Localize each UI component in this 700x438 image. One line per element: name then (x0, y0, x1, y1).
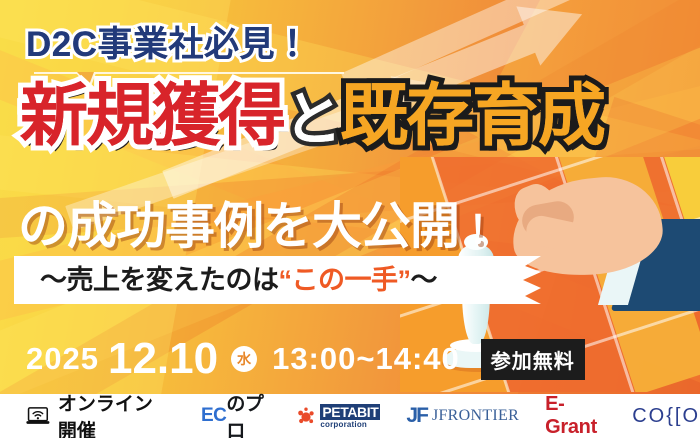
subtitle-open-quote: “ (279, 265, 292, 295)
subtitle-suffix: 〜 (411, 265, 438, 295)
logo-petabit-text: PETABIT corporation (320, 404, 380, 429)
webinar-banner: D2C事業社必見！ D2C事業社必見！ 新規獲得 新規獲得 新規獲得 と と 既… (0, 0, 700, 438)
headline-part1: 新規獲得 新規獲得 新規獲得 (20, 82, 284, 150)
eyebrow-text: D2C事業社必見！ (26, 16, 311, 67)
headline-line3-main: の成功事例を大公開 (18, 198, 459, 254)
headline-row: 新規獲得 新規獲得 新規獲得 と と 既存育成 既存育成 既存育成 (20, 82, 604, 150)
event-day-of-week: 水 (231, 346, 257, 372)
logo-ecnopro-ec: EC (201, 405, 226, 427)
event-time: 13:00~14:40 (272, 341, 460, 377)
logo-ecnopro: ECのプロ (201, 389, 270, 438)
subtitle-highlight: この一手 (292, 265, 398, 295)
logo-coffio: CO{[O (632, 405, 700, 428)
headline-conj: と と (284, 91, 340, 149)
logo-jfrontier-mark: JF (406, 404, 427, 428)
online-event-label: オンライン開催 (58, 389, 171, 438)
headline-part2: 既存育成 既存育成 既存育成 (340, 82, 604, 150)
subtitle-text: 〜売上を変えたのは“この一手”〜 (40, 256, 437, 304)
petabit-splat-icon (296, 406, 316, 426)
event-year: 2025 (26, 341, 99, 377)
headline-line3-mark: ！ (459, 210, 496, 252)
banner-content: D2C事業社必見！ D2C事業社必見！ 新規獲得 新規獲得 新規獲得 と と 既… (0, 0, 700, 438)
event-month-day: 12.10 (108, 337, 218, 381)
logo-petabit-sub: corporation (320, 421, 380, 429)
subtitle-close-quote: ” (398, 265, 411, 295)
headline-conj-text: と (284, 91, 340, 149)
logo-jfrontier-name: JFRONTIER (432, 407, 519, 425)
headline-part1-text: 新規獲得 (20, 82, 284, 150)
logo-petabit: PETABIT corporation (296, 404, 380, 429)
logo-jfrontier: JF JFRONTIER (406, 404, 519, 428)
headline-line3: の成功事例を大公開！ (18, 186, 496, 258)
footer-bar: オンライン開催 ECのプロ PETABIT corporation (0, 394, 700, 438)
subtitle-prefix: 〜売上を変えたのは (40, 265, 279, 295)
logo-petabit-name: PETABIT (320, 404, 380, 420)
event-datetime-row: 2025 12.10 水 13:00~14:40 参加無料 (26, 336, 585, 382)
free-entry-badge: 参加無料 (481, 339, 585, 380)
logo-ecnopro-pro: のプロ (226, 389, 270, 438)
headline-part2-text: 既存育成 (340, 82, 604, 150)
laptop-wifi-icon (26, 405, 50, 427)
online-event-group: オンライン開催 (26, 389, 171, 438)
logo-egrant: E-Grant (545, 393, 606, 438)
subtitle-zigzag-edge (511, 256, 541, 304)
